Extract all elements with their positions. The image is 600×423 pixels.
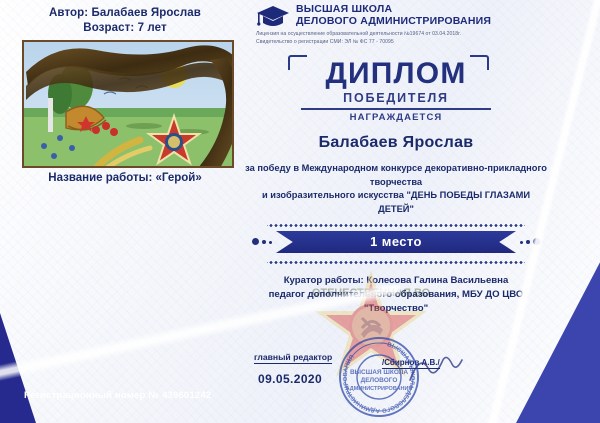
registration-number: Регистрационный номер № 439601242: [24, 390, 211, 401]
dotted-divider-top: [267, 222, 525, 228]
place-ribbon: 1 место: [246, 231, 546, 253]
ribbon-dot-right-3: [520, 241, 523, 244]
certificate-body: ДИПЛОМ ПОБЕДИТЕЛЯ НАГРАЖДАЕТСЯ Балабаев …: [236, 0, 556, 316]
dotted-divider-bottom: [267, 259, 525, 265]
svg-text:АДМИНИСТРИРОВАНИЯ: АДМИНИСТРИРОВАНИЯ: [346, 386, 413, 392]
artwork-title: Название работы: «Герой»: [0, 172, 250, 184]
curator-line-2: педагог дополнительного образования, МБУ…: [252, 288, 540, 302]
ribbon-dot-right-1: [533, 238, 540, 245]
curator-line-1: Куратор работы: Колесова Галина Васильев…: [252, 274, 540, 288]
signer-role: главный редактор: [254, 352, 332, 364]
ribbon-dot-right-2: [526, 240, 530, 244]
contest-description: за победу в Международном конкурсе декор…: [236, 162, 556, 216]
recipient-name: Балабаев Ярослав: [236, 134, 556, 152]
awarded-label: НАГРАЖДАЕТСЯ: [236, 112, 556, 123]
ribbon-dot-left-1: [252, 238, 259, 245]
page-title: ДИПЛОМ: [236, 58, 556, 90]
contest-line-1: за победу в Международном конкурсе декор…: [244, 162, 548, 189]
divider-rule: [301, 108, 491, 110]
author-name: Автор: Балабаев Ярослав: [0, 6, 250, 21]
contest-line-2: и изобразительного искусства "ДЕНЬ ПОБЕД…: [244, 189, 548, 216]
artwork-image: [22, 40, 234, 168]
official-round-stamp-icon: ВЫСШАЯ ШКОЛА ДЕЛОВОГО АДМИНИСТРИРОВАНИЯ …: [338, 336, 420, 418]
issue-date: 09.05.2020: [258, 372, 322, 386]
place-label: 1 место: [276, 231, 516, 253]
ribbon-dot-left-2: [262, 240, 266, 244]
title-subtitle: ПОБЕДИТЕЛЯ: [236, 90, 556, 106]
author-block: Автор: Балабаев Ярослав Возраст: 7 лет: [0, 0, 250, 36]
left-panel: Автор: Балабаев Ярослав Возраст: 7 лет: [0, 0, 250, 423]
svg-text:ДЕЛОВОГО: ДЕЛОВОГО: [361, 377, 398, 384]
author-age: Возраст: 7 лет: [0, 21, 250, 36]
childrens-drawing-icon: [24, 42, 234, 168]
curator-info: Куратор работы: Колесова Галина Васильев…: [236, 274, 556, 316]
svg-text:ВЫСШАЯ ШКОЛА: ВЫСШАЯ ШКОЛА: [350, 369, 408, 376]
curator-line-3: "Творчество": [252, 302, 540, 316]
ribbon-dot-left-3: [269, 241, 272, 244]
certificate-canvas: Автор: Балабаев Ярослав Возраст: 7 лет: [0, 0, 600, 423]
